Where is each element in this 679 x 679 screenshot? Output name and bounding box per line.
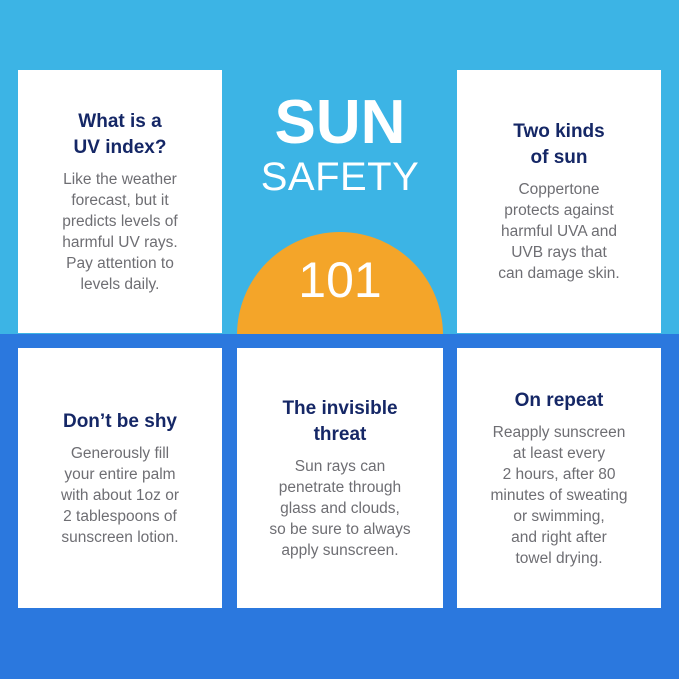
card-uv-index: What is a UV index? Like the weather for… [18,70,222,333]
card-title: Two kinds of sun [513,119,604,171]
card-body: Like the weather forecast, but it predic… [62,169,177,295]
card-body: Sun rays can penetrate through glass and… [269,456,410,561]
title-line-sun: SUN [237,92,443,154]
card-two-kinds-of-sun: Two kinds of sun Coppertone protects aga… [457,70,661,333]
card-body: Reapply sunscreen at least every 2 hours… [491,422,628,569]
poster-title: SUN SAFETY [237,92,443,200]
title-line-safety: SAFETY [237,154,443,200]
card-body: Coppertone protects against harmful UVA … [498,179,620,284]
card-on-repeat: On repeat Reapply sunscreen at least eve… [457,348,661,608]
card-invisible-threat: The invisible threat Sun rays can penetr… [237,348,443,608]
card-dont-be-shy: Don’t be shy Generously fill your entire… [18,348,222,608]
card-title: Don’t be shy [63,409,177,435]
badge-number-101: 101 [237,252,443,308]
card-title: On repeat [515,388,604,414]
sun-safety-infographic: SUN SAFETY 101 What is a UV index? Like … [0,0,679,679]
card-title: What is a UV index? [74,109,167,161]
card-title: The invisible threat [282,396,397,448]
card-body: Generously fill your entire palm with ab… [61,443,179,548]
